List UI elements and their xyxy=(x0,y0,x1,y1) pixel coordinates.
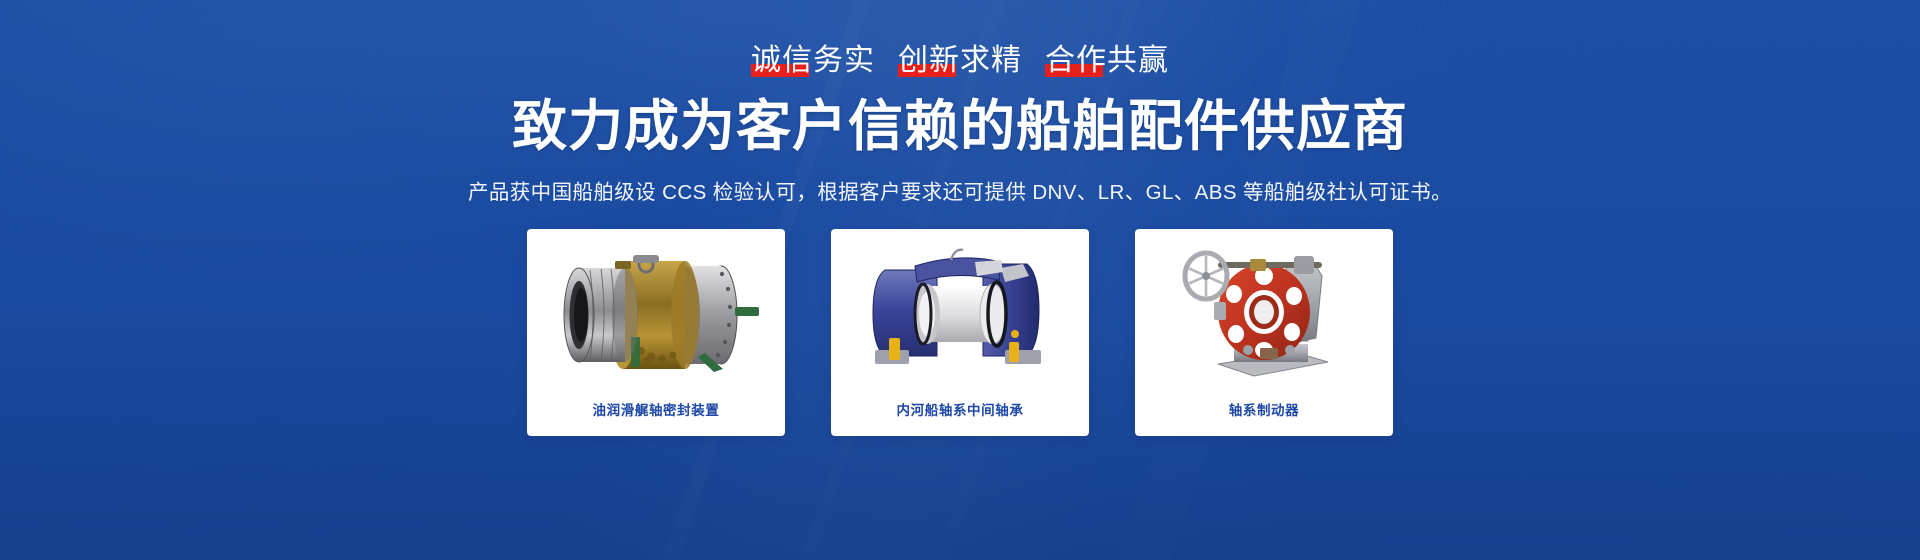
stern-tube-seal-icon xyxy=(541,239,771,387)
banner-content: 诚信务实 创新求精 合作共赢 致力成为客户信赖的船舶配件供应商 产品获中国船舶级… xyxy=(0,0,1920,560)
product-card[interactable]: 油润滑艉轴密封装置 xyxy=(527,229,785,436)
banner-subtitle: 产品获中国船舶级设 CCS 检验认可，根据客户要求还可提供 DNV、LR、GL、… xyxy=(468,175,1452,205)
tagline-group-2: 创新求精 xyxy=(898,46,1022,76)
tagline-group-3: 合作共赢 xyxy=(1045,46,1169,76)
product-card[interactable]: 轴系制动器 xyxy=(1135,229,1393,436)
tagline-text-1: 诚信务实 xyxy=(751,44,875,77)
tagline: 诚信务实 创新求精 合作共赢 xyxy=(751,46,1169,76)
product-card[interactable]: 内河船轴系中间轴承 xyxy=(831,229,1089,436)
intermediate-shaft-bearing-icon xyxy=(845,239,1075,387)
tagline-group-1: 诚信务实 xyxy=(751,46,875,76)
product-card-label: 油润滑艉轴密封装置 xyxy=(593,399,720,419)
page-title: 致力成为客户信赖的船舶配件供应商 xyxy=(512,98,1408,156)
tagline-text-2: 创新求精 xyxy=(898,44,1022,77)
shaft-brake-icon xyxy=(1149,239,1379,387)
product-card-list: 油润滑艉轴密封装置 xyxy=(527,229,1393,436)
product-card-label: 轴系制动器 xyxy=(1229,399,1300,419)
hero-banner: 诚信务实 创新求精 合作共赢 致力成为客户信赖的船舶配件供应商 产品获中国船舶级… xyxy=(0,0,1920,560)
tagline-text-3: 合作共赢 xyxy=(1045,44,1169,77)
product-card-label: 内河船轴系中间轴承 xyxy=(897,399,1024,419)
